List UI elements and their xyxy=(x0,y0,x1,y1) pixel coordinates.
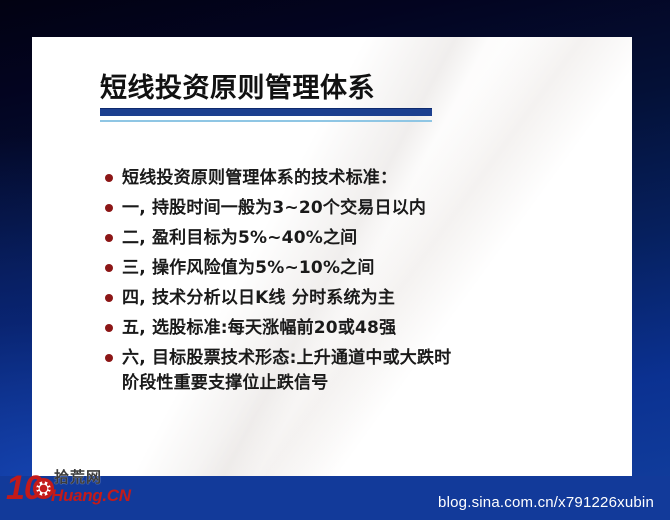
bullet-dot-icon xyxy=(105,324,113,332)
bullet-text: 三, 操作风险值为5%~10%之间 xyxy=(122,258,375,278)
bullet-item-1: 短线投资原则管理体系的技术标准： xyxy=(105,167,605,189)
watermark-cn-name: 拾荒网 xyxy=(54,466,102,487)
watermark-en-name: Huang.CN xyxy=(51,486,131,506)
title-underline-thin xyxy=(100,120,432,122)
footer-url: blog.sina.com.cn/x791226xubin xyxy=(438,494,654,511)
bullet-dot-icon xyxy=(105,354,113,362)
bullet-text: 一, 持股时间一般为3~20个交易日以内 xyxy=(122,198,426,218)
slide-title: 短线投资原则管理体系 xyxy=(100,75,560,103)
bullet-dot-icon xyxy=(105,294,113,302)
presentation-slide-screenshot: 短线投资原则管理体系 短线投资原则管理体系的技术标准： 一, 持股时间一般为3~… xyxy=(0,0,670,520)
bullet-dot-icon xyxy=(105,264,113,272)
bullet-dot-icon xyxy=(105,204,113,212)
bullet-item-6: 五, 选股标准:每天涨幅前20或48强 xyxy=(105,317,605,339)
title-underline-thick xyxy=(100,108,432,116)
bullet-text-wrapped-line: 阶段性重要支撑位止跌信号 xyxy=(122,372,605,394)
bullet-item-7: 六, 目标股票技术形态:上升通道中或大跌时 阶段性重要支撑位止跌信号 xyxy=(105,347,605,394)
slide-content-panel: 短线投资原则管理体系 短线投资原则管理体系的技术标准： 一, 持股时间一般为3~… xyxy=(32,37,632,476)
bullet-text: 六, 目标股票技术形态:上升通道中或大跌时 xyxy=(122,348,451,368)
bullet-dot-icon xyxy=(105,234,113,242)
bullet-text: 短线投资原则管理体系的技术标准： xyxy=(122,168,397,188)
bullet-item-3: 二, 盈利目标为5%~40%之间 xyxy=(105,227,605,249)
bullet-text: 五, 选股标准:每天涨幅前20或48强 xyxy=(122,318,396,338)
bullet-item-2: 一, 持股时间一般为3~20个交易日以内 xyxy=(105,197,605,219)
site-watermark: 10 拾荒网 Huang.CN xyxy=(4,465,140,517)
bullet-text: 四, 技术分析以日K线 分时系统为主 xyxy=(122,288,395,308)
bullet-dot-icon xyxy=(105,174,113,182)
bullet-text: 二, 盈利目标为5%~40%之间 xyxy=(122,228,357,248)
bullet-item-5: 四, 技术分析以日K线 分时系统为主 xyxy=(105,287,605,309)
title-block: 短线投资原则管理体系 xyxy=(100,75,560,122)
bullet-item-4: 三, 操作风险值为5%~10%之间 xyxy=(105,257,605,279)
bullet-list: 短线投资原则管理体系的技术标准： 一, 持股时间一般为3~20个交易日以内 二,… xyxy=(105,167,605,402)
